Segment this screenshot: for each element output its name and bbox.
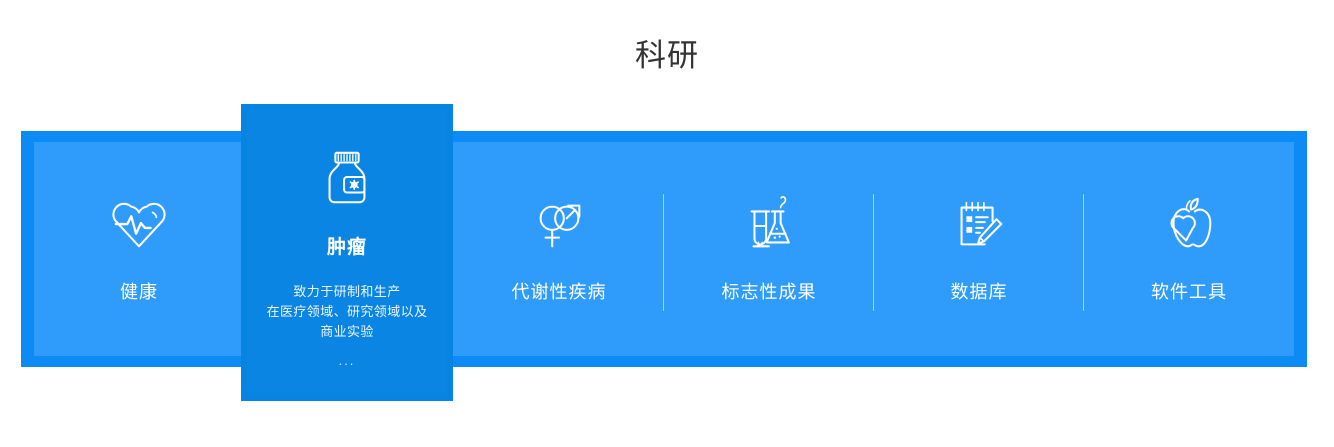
heart-pulse-icon	[108, 194, 170, 256]
active-card-title: 肿瘤	[327, 236, 367, 260]
category-card-label: 数据库	[951, 280, 1008, 304]
active-category-card-tumor[interactable]: 肿瘤 致力于研制和生产 在医疗领域、研究领域以及 商业实验 ...	[241, 104, 453, 401]
category-card-strip: 健康 代谢性疾病	[34, 142, 1294, 356]
category-card-label: 软件工具	[1151, 280, 1227, 304]
category-card-health[interactable]: 健康	[34, 142, 244, 356]
active-card-more-ellipsis[interactable]: ...	[339, 354, 356, 368]
medicine-bottle-icon	[316, 147, 378, 209]
category-card-label: 代谢性疾病	[512, 280, 607, 304]
active-card-description-line: 在医疗领域、研究领域以及	[252, 302, 442, 322]
page-title: 科研	[0, 36, 1334, 76]
active-card-description: 致力于研制和生产 在医疗领域、研究领域以及 商业实验	[252, 282, 442, 342]
notepad-pencil-icon	[948, 194, 1010, 256]
category-card-label: 标志性成果	[722, 280, 817, 304]
gender-symbols-icon	[528, 194, 590, 256]
category-card-database[interactable]: 数据库	[874, 142, 1084, 356]
active-card-description-line: 商业实验	[252, 322, 442, 342]
apple-heart-icon	[1158, 194, 1220, 256]
test-tube-flask-icon	[738, 194, 800, 256]
category-card-metabolic-disease[interactable]: 代谢性疾病	[454, 142, 664, 356]
active-card-description-line: 致力于研制和生产	[252, 282, 442, 302]
category-card-label: 健康	[120, 280, 158, 304]
active-card-face: 肿瘤 致力于研制和生产 在医疗领域、研究领域以及 商业实验 ...	[247, 110, 447, 395]
category-card-landmark-achievements[interactable]: 标志性成果	[664, 142, 874, 356]
category-card-software-tools[interactable]: 软件工具	[1084, 142, 1294, 356]
